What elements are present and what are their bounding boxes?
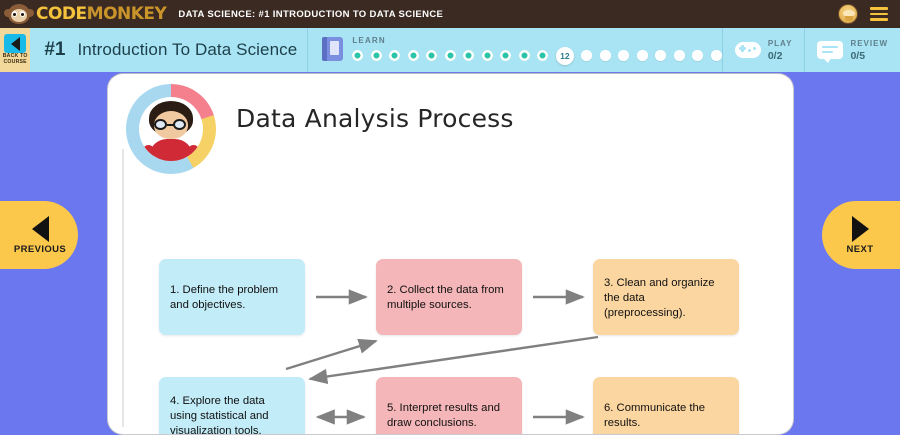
slide-header: Data Analysis Process	[108, 74, 793, 160]
lesson-name: Introduction To Data Science	[77, 40, 297, 60]
flowchart-node-4[interactable]: 4. Explore the data using statistical an…	[159, 377, 305, 435]
gamepad-icon	[735, 42, 761, 58]
divider-line	[122, 149, 124, 427]
hamburger-menu-icon[interactable]	[870, 7, 888, 21]
arrow-left-icon	[32, 216, 49, 242]
flowchart-node-3[interactable]: 3. Clean and organize the data (preproce…	[593, 259, 739, 335]
learn-dot-completed[interactable]	[445, 50, 456, 61]
data-analysis-flowchart: 1. Define the problem and objectives. 2.…	[108, 149, 794, 435]
flowchart-node-1[interactable]: 1. Define the problem and objectives.	[159, 259, 305, 335]
learn-dot-completed[interactable]	[463, 50, 474, 61]
learn-progress-zone: LEARN 12	[308, 28, 723, 72]
flowchart-node-6[interactable]: 6. Communicate the results.	[593, 377, 739, 435]
review-label: REVIEW	[850, 39, 888, 48]
learn-dot-incomplete[interactable]	[637, 50, 648, 61]
lesson-title-zone: #1 Introduction To Data Science	[30, 28, 308, 72]
play-progress-zone[interactable]: PLAY 0/2	[723, 28, 806, 72]
slide-content-card: Data Analysis Process	[107, 73, 794, 435]
review-value: 0/5	[850, 50, 888, 62]
lesson-nav-bar: BACK TO COURSE #1 Introduction To Data S…	[0, 28, 900, 72]
course-breadcrumb-title: DATA SCIENCE: #1 INTRODUCTION TO DATA SC…	[178, 9, 443, 20]
arrow-right-icon	[852, 216, 869, 242]
top-bar-actions	[838, 4, 900, 24]
monkey-head-icon	[4, 2, 34, 26]
learn-step-dots[interactable]: 12	[352, 47, 722, 65]
learn-dot-incomplete[interactable]	[600, 50, 611, 61]
codemonkey-logo[interactable]: CODEMONKEY	[0, 0, 166, 28]
next-button-label: NEXT	[847, 244, 874, 255]
next-button[interactable]: NEXT	[822, 201, 900, 269]
learn-dot-completed[interactable]	[500, 50, 511, 61]
learn-dot-incomplete[interactable]	[692, 50, 703, 61]
back-to-course-button[interactable]: BACK TO COURSE	[0, 28, 30, 72]
triangle-left-icon	[4, 34, 26, 53]
learn-dot-completed[interactable]	[537, 50, 548, 61]
learn-dot-completed[interactable]	[426, 50, 437, 61]
flowchart-node-5[interactable]: 5. Interpret results and draw conclusion…	[376, 377, 522, 435]
learn-dot-completed[interactable]	[482, 50, 493, 61]
flowchart-node-2[interactable]: 2. Collect the data from multiple source…	[376, 259, 522, 335]
logo-wordmark: CODEMONKEY	[36, 4, 166, 24]
learn-dot-incomplete[interactable]	[711, 50, 722, 61]
logo-text-code: CODE	[36, 4, 87, 24]
learn-label: LEARN	[352, 36, 722, 45]
top-bar: CODEMONKEY DATA SCIENCE: #1 INTRODUCTION…	[0, 0, 900, 28]
previous-button-label: PREVIOUS	[14, 244, 66, 255]
logo-text-monkey: MONKEY	[87, 4, 167, 24]
speech-bubble-icon	[817, 41, 843, 59]
user-avatar-icon[interactable]	[838, 4, 858, 24]
previous-button[interactable]: PREVIOUS	[0, 201, 78, 269]
learn-dot-completed[interactable]	[408, 50, 419, 61]
learn-dot-current[interactable]: 12	[556, 47, 574, 65]
learn-dot-incomplete[interactable]	[581, 50, 592, 61]
learn-dot-incomplete[interactable]	[618, 50, 629, 61]
learn-dot-incomplete[interactable]	[674, 50, 685, 61]
book-icon	[322, 37, 344, 63]
learn-dot-completed[interactable]	[389, 50, 400, 61]
learn-dot-completed[interactable]	[371, 50, 382, 61]
play-label: PLAY	[768, 39, 793, 48]
lesson-number: #1	[44, 39, 65, 61]
learn-dot-completed[interactable]	[352, 50, 363, 61]
play-value: 0/2	[768, 50, 793, 62]
page-title: Data Analysis Process	[236, 104, 514, 133]
back-button-line2: COURSE	[3, 59, 26, 65]
learn-dot-incomplete[interactable]	[655, 50, 666, 61]
learn-dot-completed[interactable]	[519, 50, 530, 61]
review-progress-zone[interactable]: REVIEW 0/5	[805, 28, 900, 72]
